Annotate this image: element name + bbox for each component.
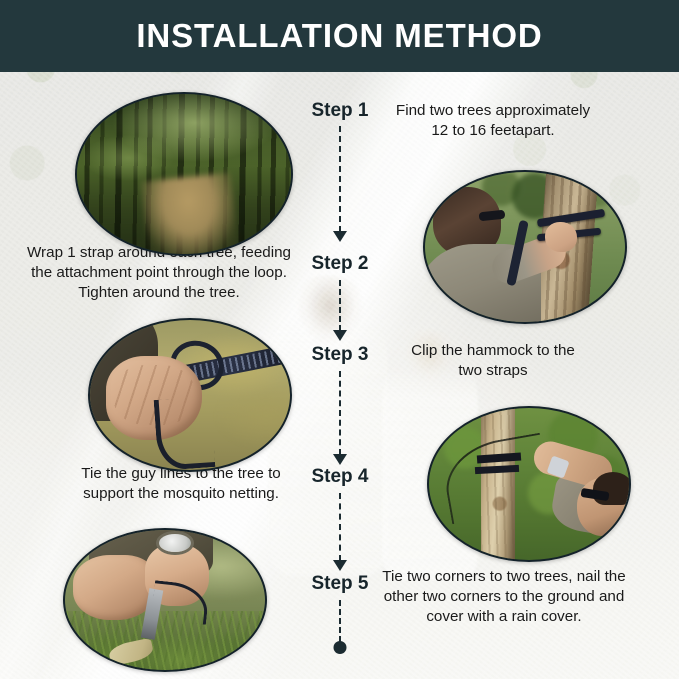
- step-1-description: Find two trees approximately 12 to 16 fe…: [381, 101, 605, 141]
- connector-2-to-3: [339, 280, 341, 331]
- connector-3-to-4: [339, 371, 341, 455]
- photo-man-wrapping-tree-strap: [423, 170, 627, 324]
- step-3-label[interactable]: Step 3: [311, 344, 368, 366]
- page-title: INSTALLATION METHOD: [136, 17, 542, 55]
- strap-photo-hand: [545, 222, 577, 252]
- connector-4-to-5: [339, 493, 341, 561]
- photo-forest-trees-path: [75, 92, 293, 256]
- header-bar: INSTALLATION METHOD: [0, 0, 679, 72]
- step-5-description: Tie two corners to two trees, nail the o…: [378, 567, 630, 627]
- tie-photo-person-hair: [593, 472, 631, 505]
- photo-tying-guy-line-to-tree: [427, 406, 631, 562]
- step-2-label[interactable]: Step 2: [311, 253, 368, 275]
- connector-5-end: [339, 600, 341, 642]
- installation-method-poster: INSTALLATION METHOD: [0, 0, 679, 679]
- step-5-label[interactable]: Step 5: [311, 573, 368, 595]
- step-3-description: Clip the hammock to the two straps: [384, 341, 602, 381]
- step-1-label[interactable]: Step 1: [311, 100, 368, 122]
- photo-staking-cord-to-ground: [63, 528, 267, 672]
- step-4-label[interactable]: Step 4: [311, 466, 368, 488]
- photo-hand-holding-carabiner: [88, 318, 292, 472]
- connector-1-to-2: [339, 126, 341, 232]
- forest-light-rays: [77, 94, 291, 254]
